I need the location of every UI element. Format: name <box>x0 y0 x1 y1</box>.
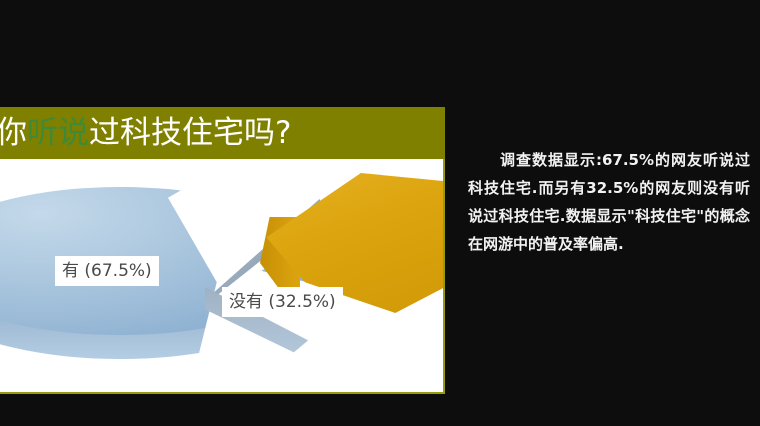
chart-title-bar: 你听说过科技住宅吗? <box>0 107 445 159</box>
pie-chart: 有 (67.5%) 没有 (32.5%) <box>0 159 443 392</box>
pie-label-no: 没有 (32.5%) <box>222 287 343 317</box>
title-prefix: 你 <box>0 115 27 151</box>
chart-block: 你听说过科技住宅吗? 有 (67.5%) 没有 (32.5%) <box>0 107 445 394</box>
title-suffix: 过科技住宅吗? <box>89 115 291 151</box>
slide-canvas: 你听说过科技住宅吗? 有 (67.5%) 没有 (32.5%) 调查数据显示:6… <box>0 0 760 426</box>
pie-label-yes: 有 (67.5%) <box>55 256 159 286</box>
pie-chart-panel: 有 (67.5%) 没有 (32.5%) <box>0 159 445 394</box>
title-highlight: 听说 <box>27 115 89 151</box>
page-title: 你听说过科技住宅吗? <box>0 109 291 157</box>
body-paragraph: 调查数据显示:67.5%的网友听说过科技住宅.而另有32.5%的网友则没有听说过… <box>468 146 750 258</box>
